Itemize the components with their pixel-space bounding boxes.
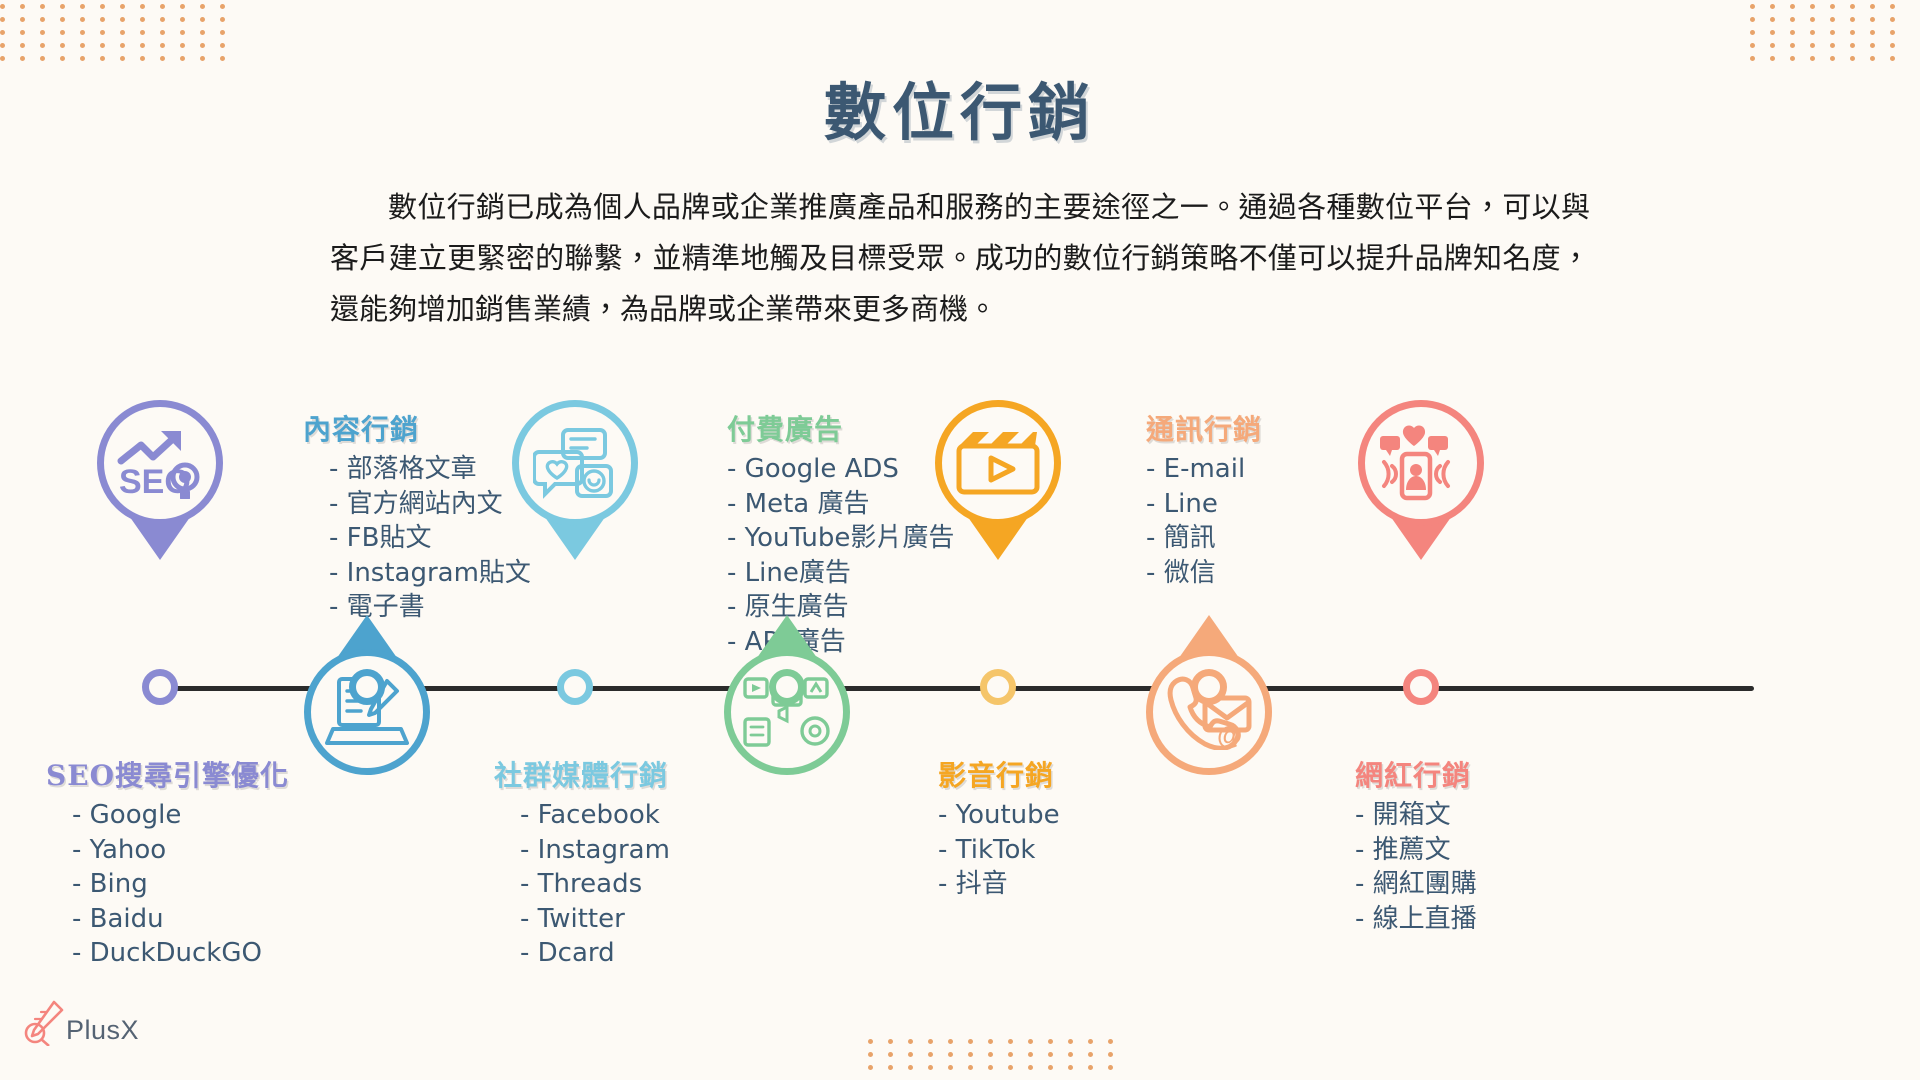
decorative-dot [1830, 4, 1835, 9]
timeline-node-paid-ads[interactable] [769, 669, 805, 705]
decorative-dot [120, 17, 125, 22]
decorative-dot [160, 43, 165, 48]
section-list-social-media: FacebookInstagramThreadsTwitterDcard [494, 798, 670, 971]
list-item: Line廣告 [727, 556, 954, 591]
decorative-dot [888, 1065, 893, 1070]
decorative-dot [160, 17, 165, 22]
section-list-content-marketing: 部落格文章官方網站內文FB貼文Instagram貼文電子書 [303, 452, 531, 625]
list-item: 簡訊 [1146, 521, 1262, 556]
decorative-dot [1890, 56, 1895, 61]
decorative-dot [928, 1052, 933, 1057]
timeline-node-influencer-marketing[interactable] [1403, 669, 1439, 705]
decorative-dot [0, 4, 5, 9]
mobile-influencer-icon [1378, 422, 1464, 504]
decorative-dot [0, 17, 5, 22]
list-item: TikTok [938, 833, 1060, 868]
decorative-dot [1108, 1065, 1113, 1070]
decorative-dot [1850, 43, 1855, 48]
list-item: 官方網站內文 [329, 487, 531, 522]
decorative-dot [1750, 17, 1755, 22]
section-list-communication-marketing: E-mailLine簡訊微信 [1146, 452, 1262, 590]
section-list-video-marketing: YoutubeTikTok抖音 [938, 798, 1060, 902]
decorative-dot [1068, 1039, 1073, 1044]
list-item: 線上直播 [1355, 902, 1477, 937]
decorative-dot [20, 17, 25, 22]
decorative-dot [80, 43, 85, 48]
video-player-icon [955, 430, 1041, 496]
decorative-dot [968, 1052, 973, 1057]
decorative-dot [200, 30, 205, 35]
decorative-dot [888, 1039, 893, 1044]
decorative-dot [1770, 43, 1775, 48]
marker-ads-megaphone[interactable]: $ [724, 649, 850, 775]
decorative-dot [1850, 30, 1855, 35]
decorative-dot [1770, 30, 1775, 35]
decorative-dot [908, 1052, 913, 1057]
decorative-dot [1810, 43, 1815, 48]
timeline-node-social-media[interactable] [557, 669, 593, 705]
list-item: Google ADS [727, 452, 954, 487]
decorative-dot [1870, 56, 1875, 61]
decorative-dot [180, 17, 185, 22]
decorative-dot [200, 43, 205, 48]
decorative-dot [1048, 1039, 1053, 1044]
decorative-dot-grid-top-left [0, 4, 232, 61]
decorative-dot [928, 1039, 933, 1044]
decorative-dot [100, 17, 105, 22]
section-heading-social-media: 社群媒體行銷 [494, 754, 670, 794]
decorative-dot [1008, 1065, 1013, 1070]
decorative-dot [200, 4, 205, 9]
decorative-dot [1890, 30, 1895, 35]
decorative-dot [1830, 17, 1835, 22]
decorative-dot [1770, 56, 1775, 61]
decorative-dot [948, 1039, 953, 1044]
list-item: Youtube [938, 798, 1060, 833]
timeline-node-communication-marketing[interactable] [1191, 669, 1227, 705]
infographic-canvas: 數位行銷 數位行銷已成為個人品牌或企業推廣產品和服務的主要途徑之一。通過各種數位… [0, 0, 1920, 1080]
page-title: 數位行銷 [0, 62, 1920, 152]
decorative-dot [868, 1039, 873, 1044]
decorative-dot [1790, 43, 1795, 48]
decorative-dot [20, 4, 25, 9]
list-item: Instagram貼文 [329, 556, 531, 591]
decorative-dot [988, 1052, 993, 1057]
decorative-dot-grid-bottom [868, 1039, 1120, 1070]
decorative-dot [1870, 4, 1875, 9]
decorative-dot [1068, 1065, 1073, 1070]
brand-logo[interactable]: PlusX [22, 1000, 139, 1046]
decorative-dot [220, 4, 225, 9]
decorative-dot [988, 1065, 993, 1070]
decorative-dot [1108, 1039, 1113, 1044]
decorative-dot [1850, 4, 1855, 9]
marker-laptop-writing[interactable] [304, 649, 430, 775]
decorative-dot [868, 1052, 873, 1057]
brand-name: PlusX [66, 1015, 139, 1046]
decorative-dot [1028, 1052, 1033, 1057]
decorative-dot [180, 30, 185, 35]
decorative-dot [200, 56, 205, 61]
list-item: DuckDuckGO [72, 936, 289, 971]
decorative-dot [40, 43, 45, 48]
decorative-dot [988, 1039, 993, 1044]
decorative-dot [1088, 1039, 1093, 1044]
section-list-influencer-marketing: 開箱文推薦文網紅團購線上直播 [1355, 798, 1477, 936]
decorative-dot [60, 43, 65, 48]
decorative-dot [40, 4, 45, 9]
decorative-dot [1750, 30, 1755, 35]
decorative-dot [1830, 30, 1835, 35]
list-item: Dcard [520, 936, 670, 971]
decorative-dot [1790, 56, 1795, 61]
section-heading-video-marketing: 影音行銷 [938, 754, 1060, 794]
decorative-dot [160, 30, 165, 35]
decorative-dot [1850, 56, 1855, 61]
timeline-node-video-marketing[interactable] [980, 669, 1016, 705]
decorative-dot [1068, 1052, 1073, 1057]
decorative-dot [1108, 1052, 1113, 1057]
list-item: E-mail [1146, 452, 1262, 487]
decorative-dot [140, 4, 145, 9]
magnifier-pencil-icon [22, 1000, 64, 1046]
decorative-dot [1770, 17, 1775, 22]
decorative-dot [80, 17, 85, 22]
list-item: Threads [520, 867, 670, 902]
section-social-media: 社群媒體行銷FacebookInstagramThreadsTwitterDca… [494, 754, 670, 971]
decorative-dot [908, 1039, 913, 1044]
decorative-dot [200, 17, 205, 22]
decorative-dot [160, 4, 165, 9]
decorative-dot [60, 4, 65, 9]
marker-seo-growth[interactable]: SEO [97, 400, 223, 526]
decorative-dot [140, 30, 145, 35]
decorative-dot [120, 4, 125, 9]
decorative-dot [1088, 1052, 1093, 1057]
decorative-dot [20, 56, 25, 61]
section-seo: SEO搜尋引擎優化GoogleYahooBingBaiduDuckDuckGO [46, 754, 289, 971]
decorative-dot [1810, 56, 1815, 61]
decorative-dot [968, 1039, 973, 1044]
decorative-dot [40, 17, 45, 22]
decorative-dot [1810, 17, 1815, 22]
decorative-dot [1830, 56, 1835, 61]
decorative-dot [20, 30, 25, 35]
list-item: Bing [72, 867, 289, 902]
decorative-dot [140, 43, 145, 48]
marker-phone-envelope[interactable]: @ [1146, 649, 1272, 775]
decorative-dot [1870, 43, 1875, 48]
section-heading-paid-ads: 付費廣告 [727, 408, 954, 448]
decorative-dot [1890, 4, 1895, 9]
section-influencer-marketing: 網紅行銷開箱文推薦文網紅團購線上直播 [1355, 754, 1477, 936]
decorative-dot [40, 56, 45, 61]
decorative-dot [1890, 17, 1895, 22]
decorative-dot [1048, 1065, 1053, 1070]
decorative-dot [1870, 30, 1875, 35]
decorative-dot [1008, 1039, 1013, 1044]
decorative-dot [1790, 30, 1795, 35]
decorative-dot [928, 1065, 933, 1070]
timeline-node-content-marketing[interactable] [349, 669, 385, 705]
decorative-dot [20, 43, 25, 48]
decorative-dot-grid-top-right [1750, 4, 1902, 61]
decorative-dot [0, 43, 5, 48]
list-item: 推薦文 [1355, 833, 1477, 868]
timeline-node-seo[interactable] [142, 669, 178, 705]
decorative-dot [220, 43, 225, 48]
decorative-dot [1810, 4, 1815, 9]
decorative-dot [1048, 1052, 1053, 1057]
decorative-dot [948, 1065, 953, 1070]
list-item: Yahoo [72, 833, 289, 868]
decorative-dot [0, 30, 5, 35]
decorative-dot [60, 17, 65, 22]
decorative-dot [1850, 17, 1855, 22]
decorative-dot [140, 17, 145, 22]
decorative-dot [1790, 17, 1795, 22]
decorative-dot [1028, 1039, 1033, 1044]
section-communication-marketing: 通訊行銷E-mailLine簡訊微信 [1146, 408, 1262, 590]
section-list-seo: GoogleYahooBingBaiduDuckDuckGO [46, 798, 289, 971]
decorative-dot [80, 4, 85, 9]
section-heading-content-marketing: 內容行銷 [303, 408, 531, 448]
list-item: Meta 廣告 [727, 487, 954, 522]
list-item: FB貼文 [329, 521, 531, 556]
decorative-dot [1008, 1052, 1013, 1057]
decorative-dot [1750, 56, 1755, 61]
decorative-dot [868, 1065, 873, 1070]
decorative-dot [220, 30, 225, 35]
decorative-dot [888, 1052, 893, 1057]
decorative-dot [1028, 1065, 1033, 1070]
decorative-dot [100, 43, 105, 48]
decorative-dot [0, 56, 5, 61]
decorative-dot [220, 56, 225, 61]
decorative-dot [1870, 17, 1875, 22]
decorative-dot [100, 56, 105, 61]
decorative-dot [80, 56, 85, 61]
marker-video-player[interactable] [935, 400, 1061, 526]
decorative-dot [1770, 4, 1775, 9]
marker-mobile-influencer[interactable] [1358, 400, 1484, 526]
decorative-dot [1810, 30, 1815, 35]
list-item: Google [72, 798, 289, 833]
decorative-dot [180, 56, 185, 61]
decorative-dot [100, 30, 105, 35]
decorative-dot [60, 56, 65, 61]
list-item: Twitter [520, 902, 670, 937]
decorative-dot [60, 30, 65, 35]
list-item: 部落格文章 [329, 452, 531, 487]
decorative-dot [100, 4, 105, 9]
decorative-dot [80, 30, 85, 35]
decorative-dot [40, 30, 45, 35]
decorative-dot [120, 30, 125, 35]
decorative-dot [1750, 43, 1755, 48]
intro-paragraph: 數位行銷已成為個人品牌或企業推廣產品和服務的主要途徑之一。通過各種數位平台，可以… [330, 182, 1590, 335]
decorative-dot [968, 1065, 973, 1070]
seo-growth-icon: SEO [117, 427, 203, 499]
decorative-dot [1790, 4, 1795, 9]
list-item: 網紅團購 [1355, 867, 1477, 902]
section-content-marketing: 內容行銷部落格文章官方網站內文FB貼文Instagram貼文電子書 [303, 408, 531, 625]
marker-chat-bubbles[interactable] [512, 400, 638, 526]
section-video-marketing: 影音行銷YoutubeTikTok抖音 [938, 754, 1060, 902]
list-item: 抖音 [938, 867, 1060, 902]
decorative-dot [180, 43, 185, 48]
list-item: Line [1146, 487, 1262, 522]
decorative-dot [120, 56, 125, 61]
section-heading-seo: SEO搜尋引擎優化 [46, 754, 289, 794]
decorative-dot [140, 56, 145, 61]
svg-text:@: @ [1217, 720, 1242, 750]
decorative-dot [1830, 43, 1835, 48]
decorative-dot [908, 1065, 913, 1070]
decorative-dot [220, 17, 225, 22]
chat-bubbles-icon [533, 426, 617, 500]
decorative-dot [180, 4, 185, 9]
list-item: 開箱文 [1355, 798, 1477, 833]
section-heading-influencer-marketing: 網紅行銷 [1355, 754, 1477, 794]
decorative-dot [160, 56, 165, 61]
decorative-dot [1750, 4, 1755, 9]
list-item: Facebook [520, 798, 670, 833]
section-heading-communication-marketing: 通訊行銷 [1146, 408, 1262, 448]
list-item: 微信 [1146, 556, 1262, 591]
list-item: YouTube影片廣告 [727, 521, 954, 556]
list-item: Baidu [72, 902, 289, 937]
decorative-dot [948, 1052, 953, 1057]
list-item: Instagram [520, 833, 670, 868]
decorative-dot [1088, 1065, 1093, 1070]
decorative-dot [120, 43, 125, 48]
decorative-dot [1890, 43, 1895, 48]
